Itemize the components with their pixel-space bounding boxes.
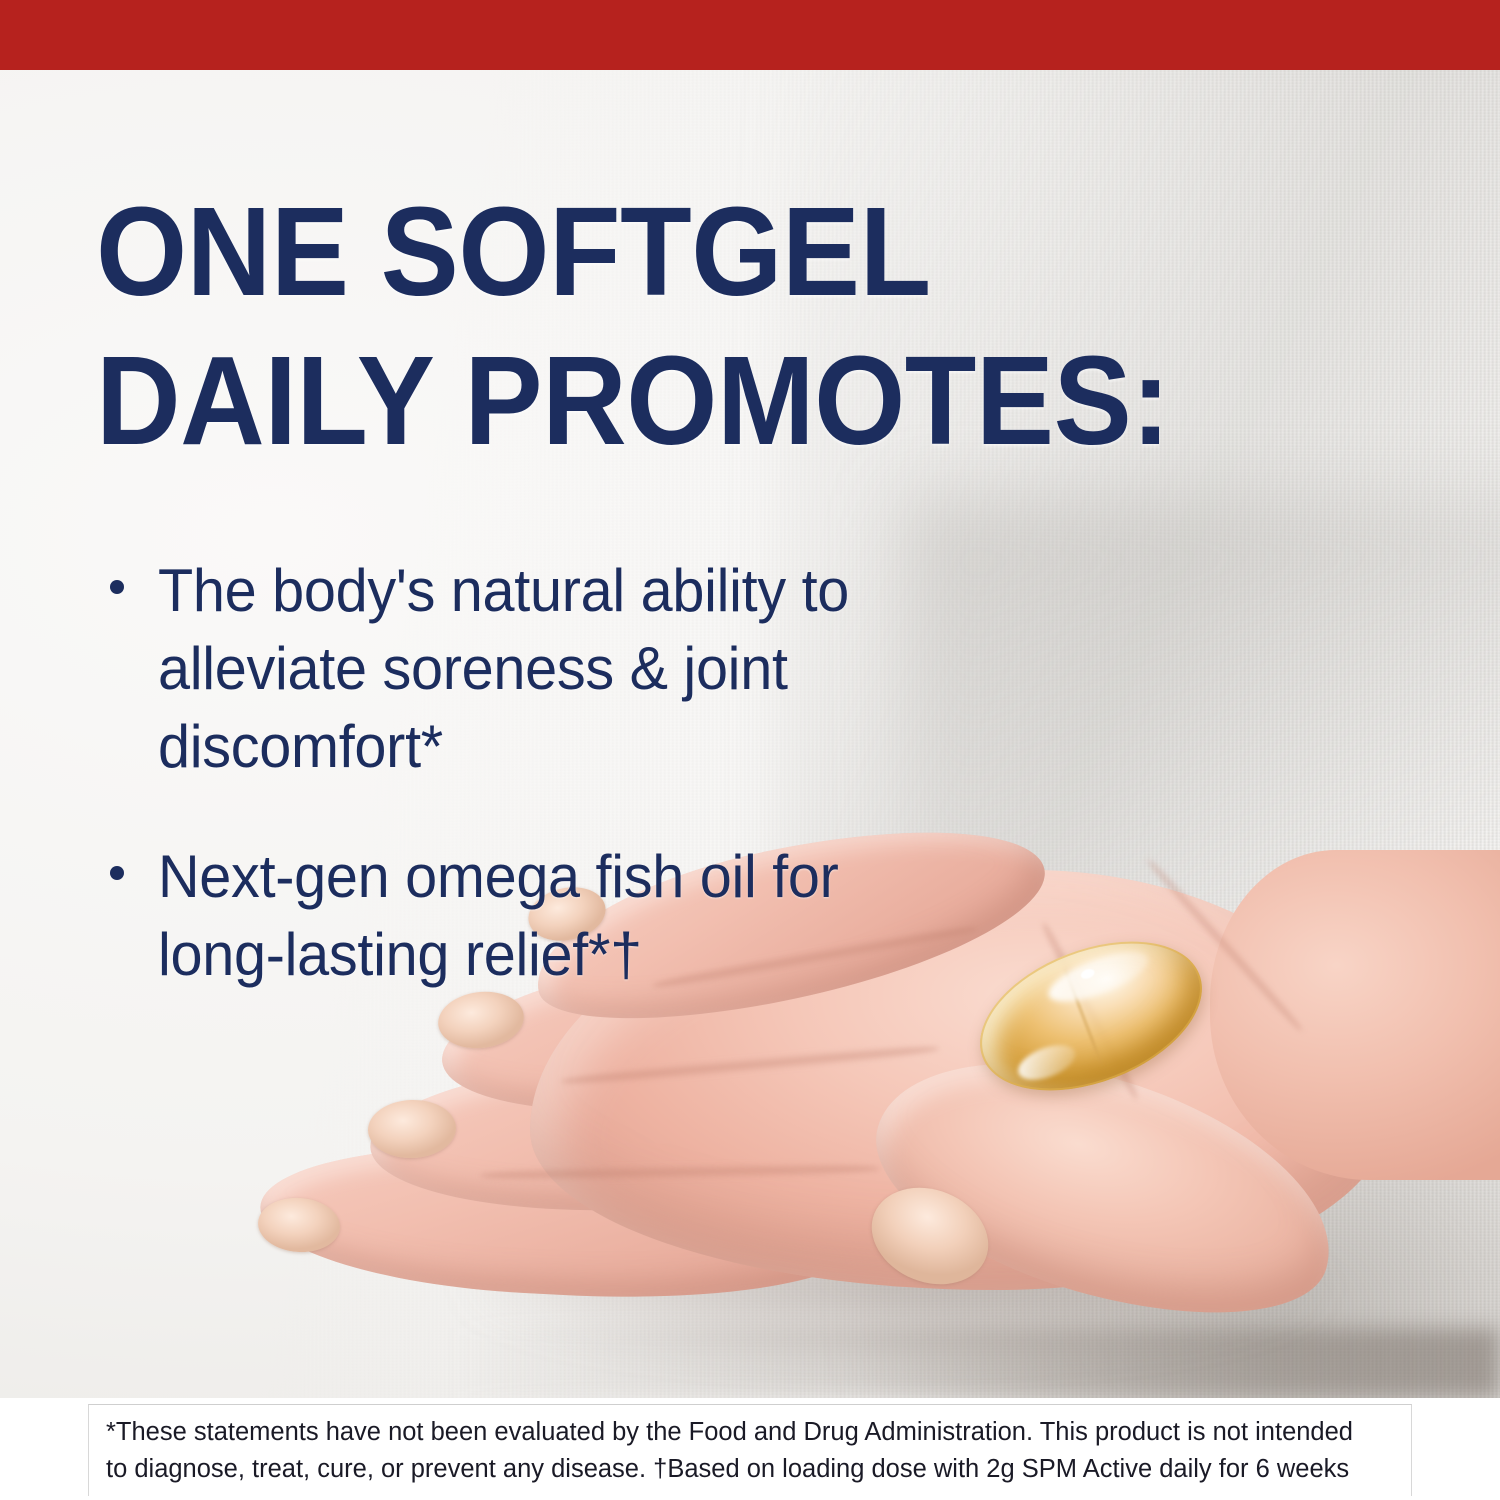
bullet-dot-icon xyxy=(110,866,124,880)
disclaimer-box: *These statements have not been evaluate… xyxy=(88,1404,1412,1496)
bullet-soreness-text: The body's natural ability to alleviate … xyxy=(158,552,849,786)
bullet-dot-icon xyxy=(110,580,124,594)
page-title: ONE SOFTGEL DAILY PROMOTES: xyxy=(96,178,1175,475)
headline-line-2: DAILY PROMOTES: xyxy=(96,327,1175,476)
bullet-1-line-1: The body's natural ability to xyxy=(158,557,849,624)
list-item: The body's natural ability to alleviate … xyxy=(110,552,940,786)
headline-line-1: ONE SOFTGEL xyxy=(96,178,1175,327)
bullet-1-line-3: discomfort* xyxy=(158,713,443,780)
top-red-banner xyxy=(0,0,1500,70)
bullet-2-line-1: Next-gen omega fish oil for xyxy=(158,843,839,910)
product-claims-image: ONE SOFTGEL DAILY PROMOTES: The body's n… xyxy=(0,0,1500,1500)
disclaimer-text: *These statements have not been evaluate… xyxy=(100,1414,1400,1486)
bullet-omega-text: Next-gen omega fish oil for long-lasting… xyxy=(158,838,839,994)
list-item: Next-gen omega fish oil for long-lasting… xyxy=(110,838,940,994)
product-photo: ONE SOFTGEL DAILY PROMOTES: The body's n… xyxy=(0,70,1500,1398)
benefit-list: The body's natural ability to alleviate … xyxy=(110,552,940,1046)
bullet-2-line-2: long-lasting relief*† xyxy=(158,921,642,988)
bullet-1-line-2: alleviate soreness & joint xyxy=(158,635,788,702)
disclaimer-line-2: to diagnose, treat, cure, or prevent any… xyxy=(106,1451,1394,1487)
disclaimer-line-1: *These statements have not been evaluate… xyxy=(106,1414,1394,1450)
disclaimer-footer: *These statements have not been evaluate… xyxy=(0,1398,1500,1500)
